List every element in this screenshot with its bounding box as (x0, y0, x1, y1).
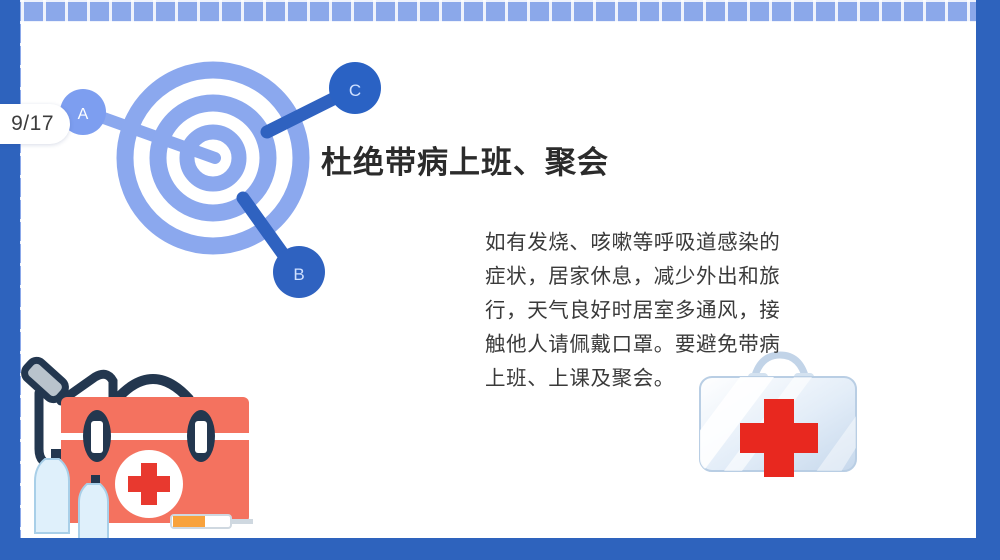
target-diagram: A C B (35, 40, 415, 305)
node-c-label: C (349, 81, 361, 100)
kit-latch-right-inner (195, 421, 207, 453)
page-indicator-label: 9/17 (11, 112, 54, 136)
node-a-label: A (78, 106, 89, 123)
target-diagram-svg: A C B (35, 40, 415, 305)
kit-handle (117, 379, 189, 399)
diagram-node-c[interactable]: C (329, 62, 381, 114)
frame-bottom-edge (0, 538, 1000, 560)
first-aid-kit-illustration (21, 353, 291, 538)
frame-right-edge (976, 0, 1000, 560)
body-paragraph: 如有发烧、咳嗽等呼吸道感染的症状，居家休息，减少外出和旅行，天气良好时居室多通风… (485, 226, 795, 396)
diagram-node-b[interactable]: B (273, 246, 325, 298)
first-aid-kit-svg (21, 353, 291, 538)
page-indicator[interactable]: 9/17 (0, 104, 70, 144)
frame-left-edge (0, 0, 20, 560)
kit-latch-left-inner (91, 421, 103, 453)
content-card: A C B 杜绝带病上班、聚会 如有发烧、咳嗽等呼吸道感染的症状，居家休息，减少… (21, 22, 976, 538)
slide-canvas: A C B 杜绝带病上班、聚会 如有发烧、咳嗽等呼吸道感染的症状，居家休息，减少… (0, 0, 1000, 560)
node-b-label: B (293, 265, 304, 284)
